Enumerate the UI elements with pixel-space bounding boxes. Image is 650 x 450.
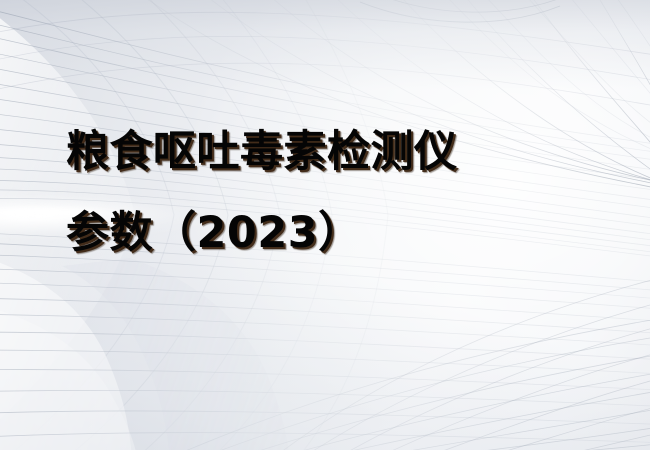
banner-title-line-1: 粮食呕吐毒素检测仪 xyxy=(66,112,586,193)
banner-title-line-2: 参数（2023） xyxy=(66,193,586,274)
banner-title-block: 粮食呕吐毒素检测仪 参数（2023） xyxy=(66,112,586,274)
title-banner: 粮食呕吐毒素检测仪 参数（2023） xyxy=(0,0,650,450)
